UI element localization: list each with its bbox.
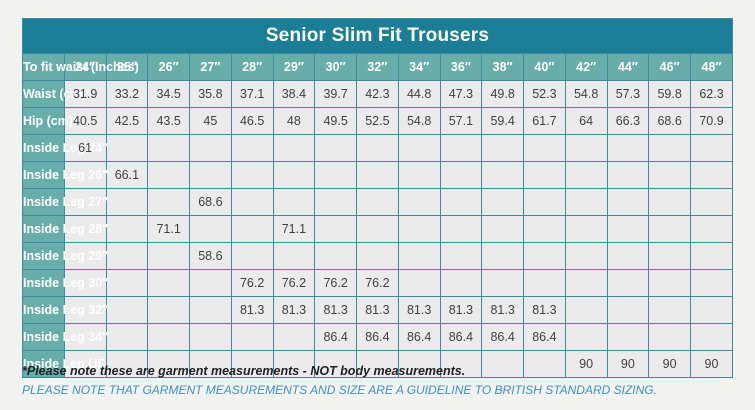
data-cell [148, 162, 190, 189]
chart-title: Senior Slim Fit Trousers [23, 19, 733, 54]
data-cell: 33.2 [106, 81, 148, 108]
title-row: Senior Slim Fit Trousers [23, 19, 733, 54]
data-cell [357, 243, 399, 270]
data-cell [482, 243, 524, 270]
data-cell: 86.4 [482, 324, 524, 351]
data-cell [190, 297, 232, 324]
data-cell: 61.7 [524, 108, 566, 135]
data-cell: 52.5 [357, 108, 399, 135]
data-cell [440, 162, 482, 189]
data-cell [565, 243, 607, 270]
data-cell: 46.5 [231, 108, 273, 135]
data-cell [649, 135, 691, 162]
data-cell [315, 162, 357, 189]
data-cell: 81.3 [482, 297, 524, 324]
data-cell [315, 243, 357, 270]
row-label: Inside Leg 30″ [23, 270, 65, 297]
data-cell [691, 189, 733, 216]
row-label: Waist (cm)* [23, 81, 65, 108]
data-cell [440, 135, 482, 162]
data-cell [565, 297, 607, 324]
data-cell [148, 324, 190, 351]
data-cell: 64 [565, 108, 607, 135]
data-cell [565, 135, 607, 162]
table-row: Inside Leg 26″66.1 [23, 162, 733, 189]
data-cell [524, 270, 566, 297]
data-cell [148, 270, 190, 297]
corner-header-to-fit-waist: To fit waist (Inches) [23, 54, 65, 81]
table-body: Waist (cm)*31.933.234.535.837.138.439.74… [23, 81, 733, 378]
data-cell [482, 162, 524, 189]
data-cell [148, 297, 190, 324]
data-cell [190, 216, 232, 243]
data-cell [273, 243, 315, 270]
data-cell: 57.1 [440, 108, 482, 135]
data-cell: 59.4 [482, 108, 524, 135]
data-cell [148, 135, 190, 162]
data-cell [565, 162, 607, 189]
column-header: 29″ [273, 54, 315, 81]
data-cell: 45 [190, 108, 232, 135]
table-row: Inside Leg 32″81.381.381.381.381.381.381… [23, 297, 733, 324]
data-cell [649, 270, 691, 297]
note-garment-measurements: *Please note these are garment measureme… [22, 364, 742, 378]
data-cell [231, 216, 273, 243]
column-header: 48″ [691, 54, 733, 81]
data-cell [357, 216, 399, 243]
table-row: Inside Leg 27″68.6 [23, 189, 733, 216]
data-cell: 76.2 [231, 270, 273, 297]
data-cell: 66.3 [607, 108, 649, 135]
data-cell [691, 135, 733, 162]
data-cell [273, 324, 315, 351]
data-cell: 47.3 [440, 81, 482, 108]
column-header: 38″ [482, 54, 524, 81]
column-header-row: To fit waist (Inches)24″25″26″27″28″29″3… [23, 54, 733, 81]
data-cell [148, 189, 190, 216]
data-cell: 57.3 [607, 81, 649, 108]
data-cell [106, 135, 148, 162]
row-label: Inside Leg 34″ [23, 324, 65, 351]
data-cell [398, 162, 440, 189]
data-cell [607, 243, 649, 270]
data-cell [231, 324, 273, 351]
data-cell: 68.6 [649, 108, 691, 135]
data-cell [565, 270, 607, 297]
data-cell: 39.7 [315, 81, 357, 108]
data-cell [190, 162, 232, 189]
data-cell [691, 243, 733, 270]
data-cell: 37.1 [231, 81, 273, 108]
column-header: 42″ [565, 54, 607, 81]
data-cell [649, 162, 691, 189]
data-cell [649, 189, 691, 216]
data-cell: 48 [273, 108, 315, 135]
data-cell [357, 189, 399, 216]
size-chart-page: Senior Slim Fit Trousers To fit waist (I… [0, 0, 755, 410]
data-cell [190, 270, 232, 297]
data-cell [315, 216, 357, 243]
row-label: Inside Leg 27″ [23, 189, 65, 216]
data-cell [273, 135, 315, 162]
data-cell: 38.4 [273, 81, 315, 108]
row-label: Inside Leg 29″ [23, 243, 65, 270]
data-cell [524, 216, 566, 243]
data-cell: 35.8 [190, 81, 232, 108]
data-cell [273, 162, 315, 189]
row-label: Hip (cm)* [23, 108, 65, 135]
data-cell [315, 189, 357, 216]
data-cell: 86.4 [357, 324, 399, 351]
data-cell [691, 324, 733, 351]
data-cell [357, 135, 399, 162]
data-cell [315, 135, 357, 162]
table-row: Waist (cm)*31.933.234.535.837.138.439.74… [23, 81, 733, 108]
data-cell: 76.2 [273, 270, 315, 297]
data-cell: 58.6 [190, 243, 232, 270]
data-cell: 62.3 [691, 81, 733, 108]
data-cell: 81.3 [398, 297, 440, 324]
data-cell: 43.5 [148, 108, 190, 135]
data-cell [691, 162, 733, 189]
column-header: 46″ [649, 54, 691, 81]
data-cell: 71.1 [148, 216, 190, 243]
data-cell [607, 270, 649, 297]
data-cell [649, 216, 691, 243]
data-cell: 81.3 [440, 297, 482, 324]
column-header: 34″ [398, 54, 440, 81]
data-cell [565, 216, 607, 243]
data-cell: 71.1 [273, 216, 315, 243]
data-cell: 76.2 [357, 270, 399, 297]
data-cell: 44.8 [398, 81, 440, 108]
data-cell: 81.3 [315, 297, 357, 324]
data-cell [106, 189, 148, 216]
data-cell: 49.8 [482, 81, 524, 108]
table-row: Inside Leg 34″86.486.486.486.486.486.4 [23, 324, 733, 351]
column-header: 32″ [357, 54, 399, 81]
data-cell [398, 216, 440, 243]
data-cell [607, 135, 649, 162]
data-cell [398, 270, 440, 297]
data-cell [440, 189, 482, 216]
data-cell [607, 189, 649, 216]
data-cell [398, 243, 440, 270]
column-header: 30″ [315, 54, 357, 81]
note-british-standard-sizing: PLEASE NOTE THAT GARMENT MEASUREMENTS AN… [22, 383, 742, 397]
data-cell [231, 135, 273, 162]
data-cell [190, 135, 232, 162]
data-cell [482, 189, 524, 216]
data-cell [106, 270, 148, 297]
column-header: 40″ [524, 54, 566, 81]
data-cell [106, 243, 148, 270]
data-cell [482, 135, 524, 162]
data-cell [398, 189, 440, 216]
data-cell [482, 216, 524, 243]
footer-notes: *Please note these are garment measureme… [22, 364, 742, 397]
data-cell [607, 324, 649, 351]
data-cell [106, 216, 148, 243]
data-cell [190, 324, 232, 351]
table-head: Senior Slim Fit Trousers To fit waist (I… [23, 19, 733, 81]
data-cell [440, 270, 482, 297]
data-cell [691, 216, 733, 243]
data-cell [231, 243, 273, 270]
data-cell: 81.3 [357, 297, 399, 324]
data-cell [440, 216, 482, 243]
data-cell: 59.8 [649, 81, 691, 108]
data-cell [607, 297, 649, 324]
data-cell [524, 189, 566, 216]
data-cell [357, 162, 399, 189]
data-cell [524, 243, 566, 270]
data-cell: 86.4 [315, 324, 357, 351]
data-cell [649, 324, 691, 351]
data-cell [565, 189, 607, 216]
data-cell [691, 270, 733, 297]
data-cell [440, 243, 482, 270]
data-cell [148, 243, 190, 270]
data-cell [398, 135, 440, 162]
data-cell: 76.2 [315, 270, 357, 297]
row-label: Inside Leg 26″ [23, 162, 65, 189]
data-cell: 86.4 [524, 324, 566, 351]
table-row: Hip (cm)*40.542.543.54546.54849.552.554.… [23, 108, 733, 135]
data-cell: 54.8 [565, 81, 607, 108]
column-header: 44″ [607, 54, 649, 81]
data-cell [106, 297, 148, 324]
data-cell: 81.3 [231, 297, 273, 324]
column-header: 27″ [190, 54, 232, 81]
row-label: Inside Leg 32″ [23, 297, 65, 324]
table-row: Inside Leg 29″58.6 [23, 243, 733, 270]
data-cell [231, 162, 273, 189]
data-cell: 86.4 [398, 324, 440, 351]
data-cell: 49.5 [315, 108, 357, 135]
data-cell [565, 324, 607, 351]
data-cell: 68.6 [190, 189, 232, 216]
data-cell [607, 162, 649, 189]
column-header: 36″ [440, 54, 482, 81]
data-cell: 34.5 [148, 81, 190, 108]
data-cell [482, 270, 524, 297]
data-cell: 54.8 [398, 108, 440, 135]
column-header: 28″ [231, 54, 273, 81]
data-cell [691, 297, 733, 324]
data-cell: 66.1 [106, 162, 148, 189]
data-cell [649, 297, 691, 324]
data-cell: 52.3 [524, 81, 566, 108]
data-cell [231, 189, 273, 216]
row-label: Inside Leg 24″ [23, 135, 65, 162]
data-cell: 81.3 [273, 297, 315, 324]
data-cell: 86.4 [440, 324, 482, 351]
data-cell [273, 189, 315, 216]
table-row: Inside Leg 30″76.276.276.276.2 [23, 270, 733, 297]
row-label: Inside Leg 28″ [23, 216, 65, 243]
size-chart-table: Senior Slim Fit Trousers To fit waist (I… [22, 18, 733, 378]
data-cell [106, 324, 148, 351]
column-header: 26″ [148, 54, 190, 81]
data-cell [524, 162, 566, 189]
data-cell: 81.3 [524, 297, 566, 324]
data-cell [607, 216, 649, 243]
data-cell: 42.5 [106, 108, 148, 135]
table-row: Inside Leg 24″61 [23, 135, 733, 162]
data-cell: 70.9 [691, 108, 733, 135]
data-cell: 42.3 [357, 81, 399, 108]
size-chart-table-container: Senior Slim Fit Trousers To fit waist (I… [22, 18, 733, 378]
data-cell [524, 135, 566, 162]
data-cell [649, 243, 691, 270]
table-row: Inside Leg 28″71.171.1 [23, 216, 733, 243]
